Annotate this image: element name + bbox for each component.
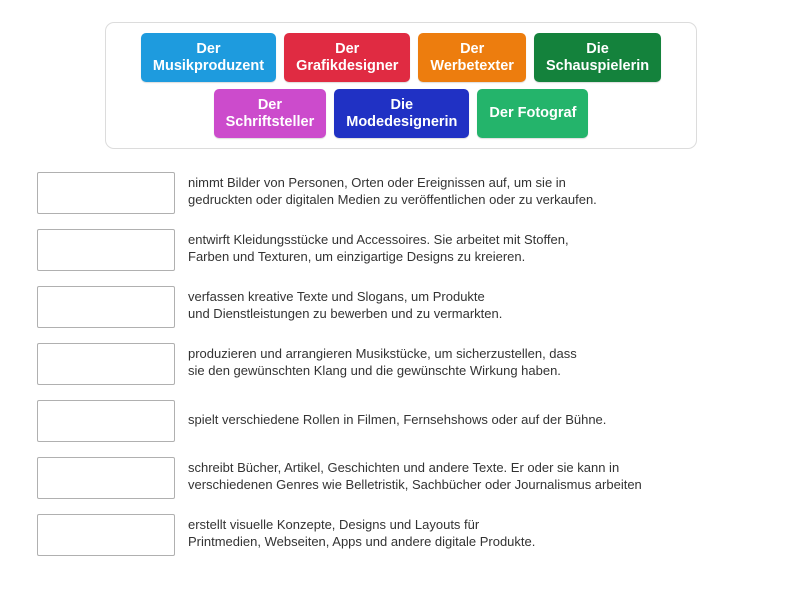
question-row: erstellt visuelle Konzepte, Designs und … xyxy=(37,514,767,571)
answer-drop-zone[interactable] xyxy=(37,172,175,214)
question-list: nimmt Bilder von Personen, Orten oder Er… xyxy=(37,172,767,571)
answer-tile[interactable]: Der Fotograf xyxy=(477,89,588,138)
answer-drop-zone[interactable] xyxy=(37,286,175,328)
question-prompt-text: nimmt Bilder von Personen, Orten oder Er… xyxy=(188,172,767,208)
answer-tile[interactable]: Der Musikproduzent xyxy=(141,33,276,82)
question-row: nimmt Bilder von Personen, Orten oder Er… xyxy=(37,172,767,229)
answer-tile[interactable]: Der Werbetexter xyxy=(418,33,526,82)
question-row: produzieren und arrangieren Musikstücke,… xyxy=(37,343,767,400)
answer-tile[interactable]: Die Modedesignerin xyxy=(334,89,469,138)
answer-drop-zone[interactable] xyxy=(37,400,175,442)
question-prompt-text: spielt verschiedene Rollen in Filmen, Fe… xyxy=(188,400,767,429)
answer-drop-zone[interactable] xyxy=(37,343,175,385)
answer-tile[interactable]: Der Schriftsteller xyxy=(214,89,327,138)
answer-drop-zone[interactable] xyxy=(37,457,175,499)
tile-row-2: Der SchriftstellerDie ModedesignerinDer … xyxy=(112,89,690,138)
question-prompt-text: entwirft Kleidungsstücke und Accessoires… xyxy=(188,229,767,265)
question-prompt-text: produzieren und arrangieren Musikstücke,… xyxy=(188,343,767,379)
question-prompt-text: schreibt Bücher, Artikel, Geschichten un… xyxy=(188,457,767,493)
answer-drop-zone[interactable] xyxy=(37,514,175,556)
answer-drop-zone[interactable] xyxy=(37,229,175,271)
question-prompt-text: erstellt visuelle Konzepte, Designs und … xyxy=(188,514,767,550)
question-row: spielt verschiedene Rollen in Filmen, Fe… xyxy=(37,400,767,457)
question-row: entwirft Kleidungsstücke und Accessoires… xyxy=(37,229,767,286)
answer-tile[interactable]: Die Schauspielerin xyxy=(534,33,661,82)
question-row: verfassen kreative Texte und Slogans, um… xyxy=(37,286,767,343)
question-prompt-text: verfassen kreative Texte und Slogans, um… xyxy=(188,286,767,322)
question-row: schreibt Bücher, Artikel, Geschichten un… xyxy=(37,457,767,514)
tile-row-1: Der MusikproduzentDer GrafikdesignerDer … xyxy=(112,33,690,82)
answer-tile-bank: Der MusikproduzentDer GrafikdesignerDer … xyxy=(105,22,697,149)
answer-tile[interactable]: Der Grafikdesigner xyxy=(284,33,410,82)
